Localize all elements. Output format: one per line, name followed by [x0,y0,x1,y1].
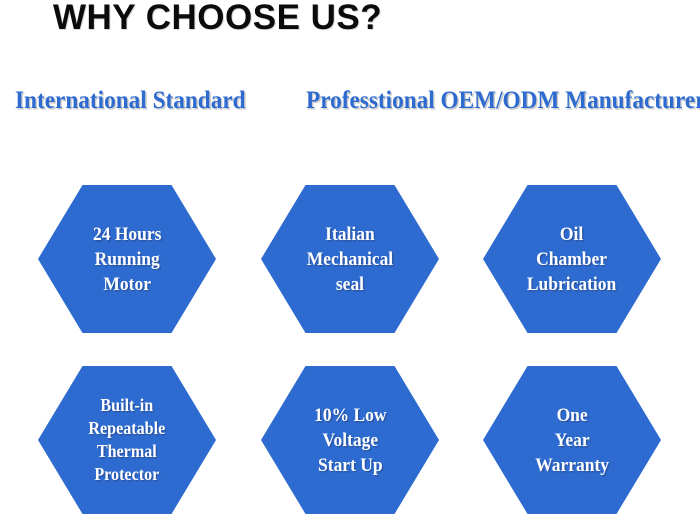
feature-hexagon-label: Built-in Repeatable Thermal Protector [83,394,171,486]
feature-hexagon-24-hours-running-motor: 24 Hours Running Motor [38,185,216,333]
feature-hexagon-label: 24 Hours Running Motor [87,222,167,297]
feature-hexagon-label: Italian Mechanical seal [301,222,398,297]
feature-hexagon-label: One Year Warranty [530,403,615,478]
feature-hexagon-oil-chamber-lubrication: Oil Chamber Lubrication [483,185,661,333]
why-choose-us-slide: WHY CHOOSE US? International Standard Pr… [0,0,700,528]
feature-hexagon-italian-mechanical-seal: Italian Mechanical seal [261,185,439,333]
feature-hexagon-label: Oil Chamber Lubrication [522,222,622,297]
feature-hexagon-grid: 24 Hours Running MotorItalian Mechanical… [0,0,700,528]
feature-hexagon-low-voltage-start-up: 10% Low Voltage Start Up [261,366,439,514]
feature-hexagon-label: 10% Low Voltage Start Up [308,403,391,478]
feature-hexagon-built-in-thermal-protector: Built-in Repeatable Thermal Protector [38,366,216,514]
feature-hexagon-one-year-warranty: One Year Warranty [483,366,661,514]
